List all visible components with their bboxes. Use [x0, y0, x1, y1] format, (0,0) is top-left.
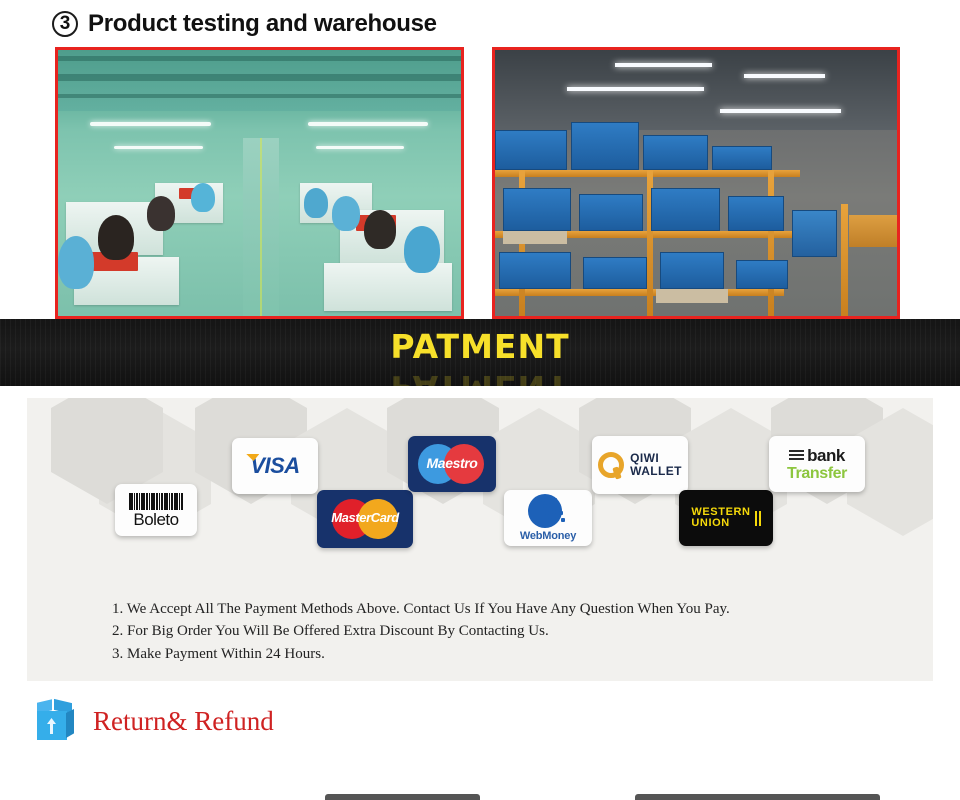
payment-term-3: 3. Make Payment Within 24 Hours.: [112, 643, 730, 666]
payment-logo-webmoney[interactable]: WebMoney: [504, 490, 592, 546]
payment-methods-panel: Boleto VISA MasterCard Maestro: [27, 398, 933, 681]
payment-logo-visa[interactable]: VISA: [232, 438, 318, 494]
payment-logo-boleto[interactable]: Boleto: [115, 484, 197, 536]
payment-term-1: 1. We Accept All The Payment Methods Abo…: [112, 598, 730, 621]
payment-label-qiwi-wallet: WALLET: [630, 465, 682, 478]
payment-label-bank: bank: [807, 447, 845, 464]
qiwi-q-icon: [598, 452, 624, 478]
box-up-arrow-icon: [37, 701, 75, 741]
western-union-bars-icon: [755, 511, 761, 526]
photo-row: [0, 47, 960, 319]
bank-transfer-speed-lines-icon: [789, 450, 804, 460]
payment-logo-bank-transfer[interactable]: bank Transfer: [769, 436, 865, 492]
section-header: 3 Product testing and warehouse: [0, 0, 960, 47]
photo-warehouse-racks: [492, 47, 901, 319]
payment-logo-western-union[interactable]: WESTERN UNION: [679, 490, 773, 546]
cutoff-box-right: [635, 794, 880, 800]
payment-label-webmoney: WebMoney: [520, 530, 576, 542]
payment-banner-title: PATMENT: [390, 327, 569, 366]
payment-banner: PATMENT PATMENT: [0, 319, 960, 386]
payment-terms-list: 1. We Accept All The Payment Methods Abo…: [112, 598, 730, 666]
payment-logo-qiwi[interactable]: QIWI WALLET: [592, 436, 688, 494]
payment-label-visa: VISA: [250, 453, 299, 479]
barcode-icon: [129, 493, 183, 510]
payment-label-boleto: Boleto: [133, 511, 178, 528]
payment-label-transfer: Transfer: [787, 466, 847, 482]
payment-term-2: 2. For Big Order You Will Be Offered Ext…: [112, 620, 730, 643]
return-refund-header: Return& Refund: [0, 681, 960, 741]
section-number-badge: 3: [52, 11, 78, 37]
payment-label-maestro: Maestro: [416, 455, 488, 471]
payment-label-union: UNION: [691, 518, 750, 529]
return-refund-title: Return& Refund: [93, 706, 274, 737]
payment-logo-mastercard[interactable]: MasterCard: [317, 490, 413, 548]
webmoney-globe-icon: [528, 494, 568, 528]
photo-factory-assembly-line: [55, 47, 464, 319]
payment-banner-reflection: PATMENT: [390, 368, 569, 386]
cutoff-box-left: [325, 794, 480, 800]
factory-aisle: [243, 138, 279, 316]
cutoff-boxes-row: [0, 792, 960, 800]
payment-logo-maestro[interactable]: Maestro: [408, 436, 496, 492]
payment-label-mastercard: MasterCard: [328, 510, 402, 525]
page-title: Product testing and warehouse: [88, 10, 437, 38]
factory-ceiling: [58, 50, 461, 111]
